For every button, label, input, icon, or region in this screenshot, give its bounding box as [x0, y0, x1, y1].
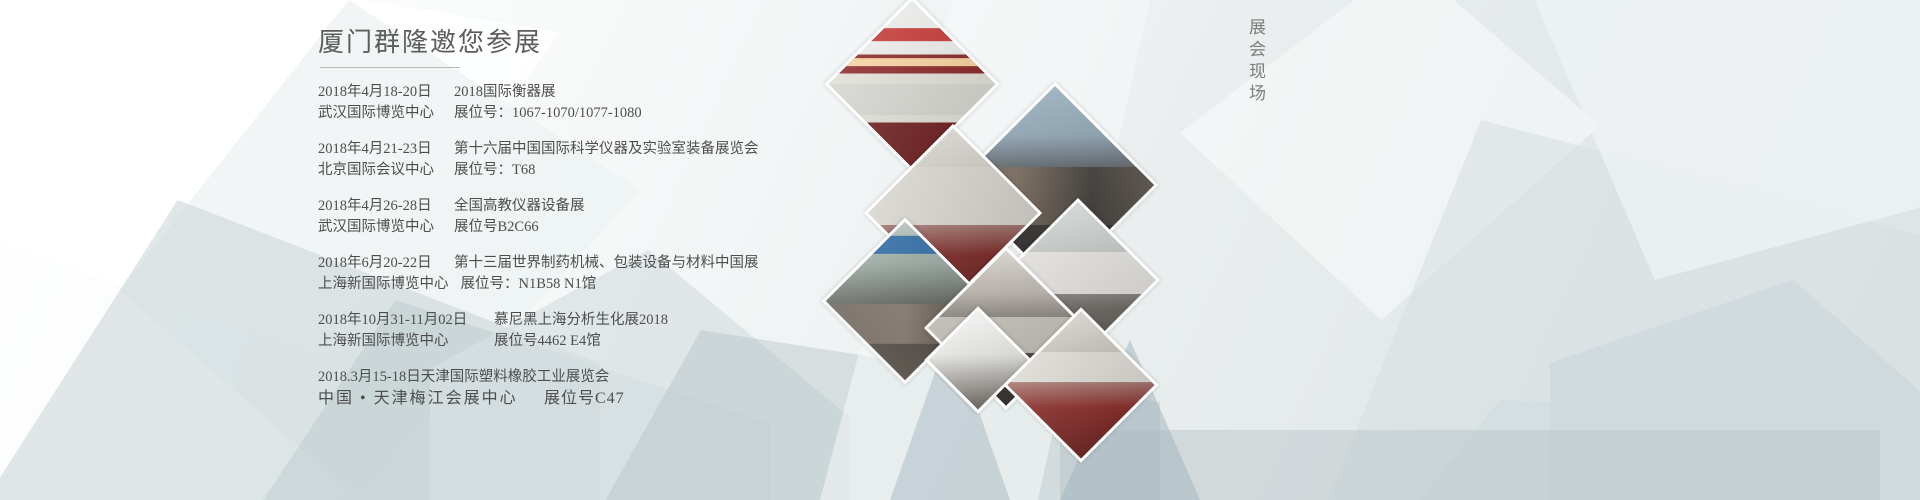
event-venue: 北京国际会议中心 [318, 160, 442, 181]
event-name: 2018国际衡器展 [454, 82, 556, 103]
event-date: 2018年6月20-22日 [318, 253, 442, 274]
event-venue: 武汉国际博览中心 [318, 217, 442, 238]
event-booth: 展位号：T68 [454, 160, 535, 181]
background-facet [1420, 400, 1920, 500]
event-venue: 上海新国际博览中心 [318, 331, 482, 352]
event-booth: 展位号C47 [544, 388, 625, 409]
background-facet [1550, 280, 1920, 500]
event-venue: 中国 • 天津梅江会展中心 [318, 388, 532, 409]
event-name: 第十六届中国国际科学仪器及实验室装备展览会 [454, 139, 759, 160]
event-booth: 展位号：N1B58 N1馆 [461, 274, 597, 295]
event-booth: 展位号B2C66 [454, 217, 539, 238]
event-booth: 展位号4462 E4馆 [494, 331, 601, 352]
event-date: 2018.3月15-18日天津国际塑料橡胶工业展览会 [318, 369, 609, 385]
event-name: 全国高教仪器设备展 [454, 196, 585, 217]
event-booth: 展位号：1067-1070/1077-1080 [454, 103, 642, 124]
background-facet [1480, 0, 1920, 280]
event-date: 2018年4月18-20日 [318, 82, 442, 103]
background-facet [1320, 120, 1920, 500]
event-venue: 武汉国际博览中心 [318, 103, 442, 124]
photo-collage [830, 0, 1250, 500]
title-underline [320, 67, 460, 68]
event-name: 慕尼黑上海分析生化展2018 [494, 310, 668, 331]
event-date: 2018年10月31-11月02日 [318, 310, 482, 331]
event-date: 2018年4月26-28日 [318, 196, 442, 217]
event-name: 第十三届世界制药机械、包装设备与材料中国展 [454, 253, 759, 274]
event-venue: 上海新国际博览中心 [318, 274, 449, 295]
event-date: 2018年4月21-23日 [318, 139, 442, 160]
banner-root: 厦门群隆邀您参展 2018年4月18-20日 2018国际衡器展 武汉国际博览中… [0, 0, 1920, 500]
